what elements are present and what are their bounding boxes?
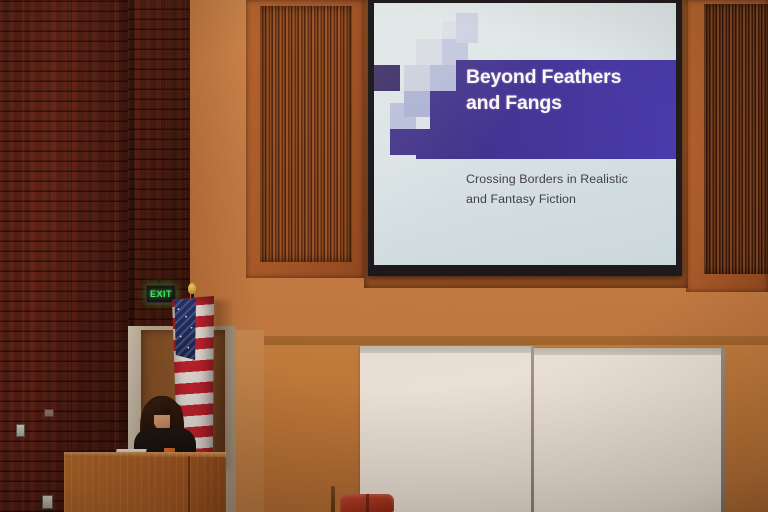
wall-outlet (44, 409, 54, 417)
mosaic-square (374, 65, 400, 91)
mosaic-square (456, 13, 478, 43)
mosaic-square (404, 65, 430, 91)
wood-slats (704, 4, 768, 274)
podium-top-edge (64, 452, 226, 457)
whiteboard-panel-left (360, 346, 532, 512)
presentation-slide: Beyond Feathers and Fangs Crossing Borde… (374, 3, 676, 265)
wall-outlet (42, 495, 53, 509)
wood-slat-panel-right (686, 0, 768, 292)
mosaic-square (416, 129, 456, 159)
slide-subtitle-line-1: Crossing Borders in Realistic (466, 169, 672, 189)
podium-side-face (190, 458, 226, 512)
wood-slat-panel-left (246, 0, 364, 278)
wood-slats (260, 6, 352, 262)
slide-title-line-1: Beyond Feathers (466, 65, 672, 91)
whiteboard-right-edge (721, 348, 725, 512)
whiteboard-panel-right (534, 348, 722, 512)
whiteboard-top-rail (360, 346, 532, 353)
flag-canton (174, 298, 196, 360)
mosaic-square (404, 91, 430, 117)
whiteboard-seam (531, 346, 534, 512)
wall-outlet (16, 424, 25, 437)
mosaic-square (416, 39, 442, 65)
slide-title: Beyond Feathers and Fangs (466, 65, 672, 117)
flag-finial-icon (188, 283, 196, 294)
podium-seam (188, 456, 190, 512)
slide-subtitle: Crossing Borders in Realistic and Fantas… (466, 169, 672, 209)
mosaic-square (430, 91, 456, 129)
chair-backrest-split (366, 494, 369, 512)
exit-sign-label: EXIT (150, 290, 172, 299)
mosaic-square (390, 129, 416, 155)
chair-post (331, 486, 335, 512)
flag-shadow (214, 300, 234, 470)
slide-subtitle-line-2: and Fantasy Fiction (466, 189, 672, 209)
whiteboard-top-rail (534, 348, 722, 355)
slide-title-line-2: and Fangs (466, 91, 672, 117)
lecture-hall-photo: Beyond Feathers and Fangs Crossing Borde… (0, 0, 768, 512)
exit-sign: EXIT (146, 285, 176, 303)
mosaic-square (430, 65, 456, 91)
wall-soffit-line (188, 336, 768, 345)
